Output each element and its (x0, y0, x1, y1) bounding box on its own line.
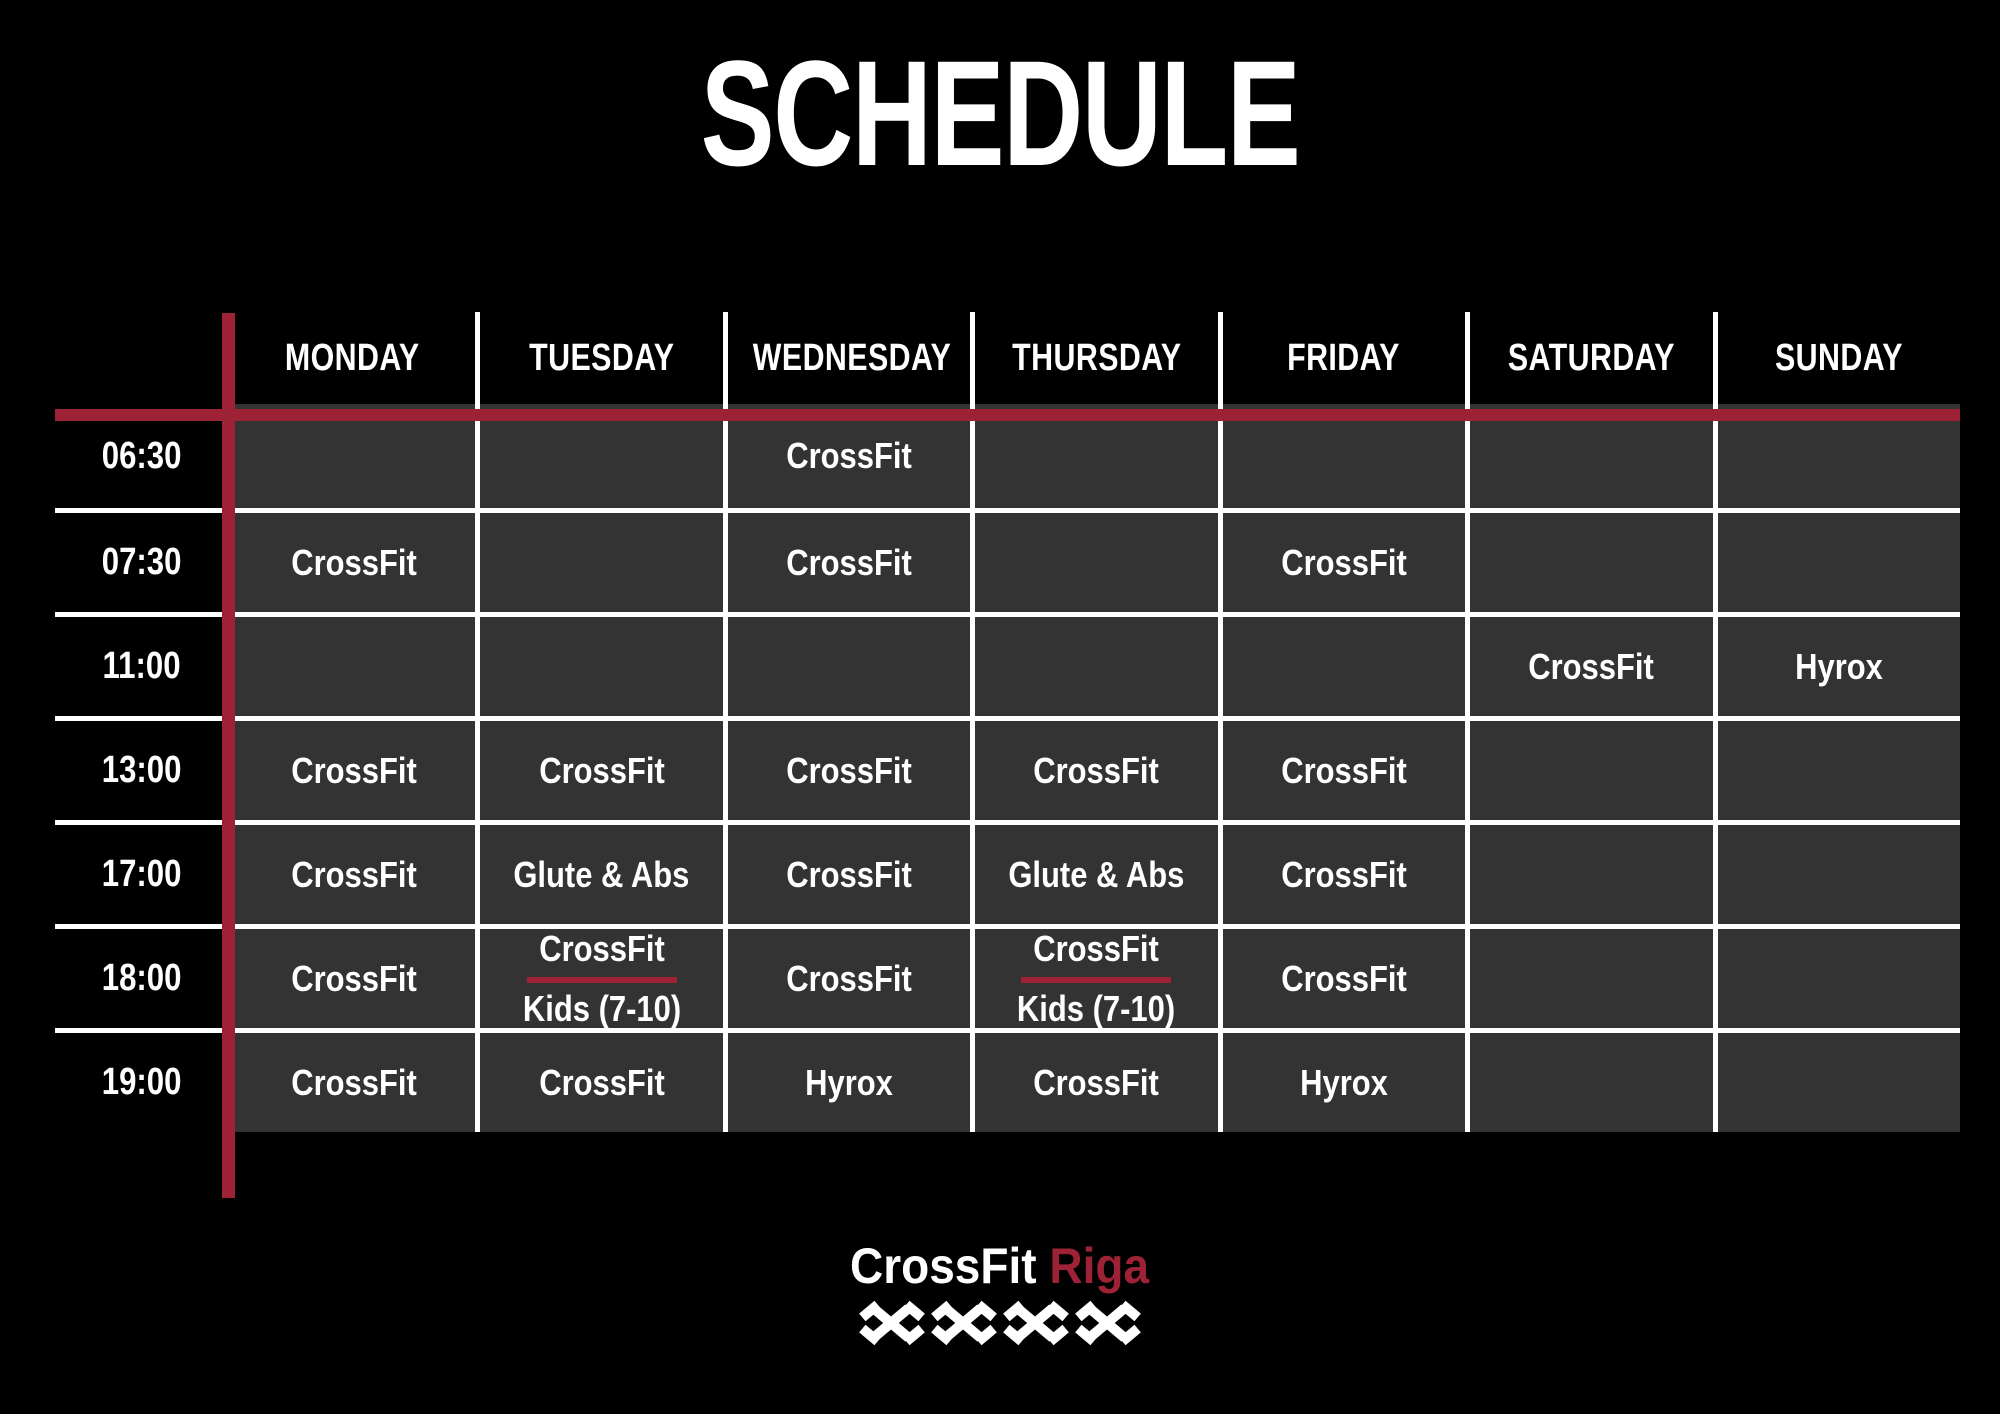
day-header-label: SATURDAY (1508, 337, 1675, 380)
schedule-row: 13:00CrossFitCrossFitCrossFitCrossFitCro… (55, 716, 1960, 820)
class-name: CrossFit (786, 959, 912, 999)
footer: CrossFit Riga (0, 1238, 2000, 1342)
time-label-text: 18:00 (102, 957, 182, 1000)
class-name: Hyrox (805, 1063, 893, 1103)
class-name-secondary: Kids (7-10) (1017, 991, 1175, 1027)
class-cell-wednesday-0730[interactable]: CrossFit (723, 508, 970, 612)
day-header-thursday: THURSDAY (970, 312, 1217, 404)
class-cell-monday-1800[interactable]: CrossFit (228, 924, 475, 1028)
day-header-label: TUESDAY (529, 337, 674, 380)
class-divider-rule (1021, 977, 1171, 983)
class-cell-thursday-1800[interactable]: CrossFitKids (7-10) (970, 924, 1217, 1028)
brand-secondary: Riga (1050, 1238, 1150, 1294)
schedule-row: 18:00CrossFitCrossFitKids (7-10)CrossFit… (55, 924, 1960, 1028)
class-cell-wednesday-1100[interactable] (723, 612, 970, 716)
class-cell-saturday-0730[interactable] (1465, 508, 1712, 612)
class-divider-rule (527, 977, 677, 983)
class-cell-thursday-1100[interactable] (970, 612, 1217, 716)
class-name: CrossFit (786, 855, 912, 895)
dual-class-block: CrossFitKids (7-10) (480, 931, 722, 1027)
class-cell-friday-1300[interactable]: CrossFit (1218, 716, 1465, 820)
schedule-table: MONDAYTUESDAYWEDNESDAYTHURSDAYFRIDAYSATU… (55, 312, 1960, 1132)
class-cell-thursday-1700[interactable]: Glute & Abs (970, 820, 1217, 924)
class-name: CrossFit (1529, 647, 1655, 687)
time-label-text: 11:00 (103, 645, 181, 688)
time-label-text: 06:30 (102, 435, 182, 478)
class-cell-saturday-1900[interactable] (1465, 1028, 1712, 1132)
class-cell-monday-0730[interactable]: CrossFit (228, 508, 475, 612)
class-cell-tuesday-1100[interactable] (475, 612, 722, 716)
day-header-wednesday: WEDNESDAY (723, 312, 970, 404)
class-cell-sunday-1900[interactable] (1713, 1028, 1960, 1132)
class-name-secondary: Kids (7-10) (523, 991, 681, 1027)
class-name: Hyrox (1300, 1063, 1388, 1103)
class-cell-sunday-1300[interactable] (1713, 716, 1960, 820)
class-cell-friday-1800[interactable]: CrossFit (1218, 924, 1465, 1028)
class-cell-friday-1100[interactable] (1218, 612, 1465, 716)
schedule-row: 07:30CrossFitCrossFitCrossFit (55, 508, 1960, 612)
schedule-poster: SCHEDULE MONDAYTUESDAYWEDNESDAYTHURSDAYF… (0, 0, 2000, 1414)
accent-line-vertical (222, 313, 235, 1198)
class-name-primary: CrossFit (1034, 931, 1160, 971)
day-header-tuesday: TUESDAY (475, 312, 722, 404)
class-name: CrossFit (786, 436, 912, 476)
class-name: CrossFit (539, 751, 665, 791)
class-cell-monday-1100[interactable] (228, 612, 475, 716)
class-cell-thursday-1900[interactable]: CrossFit (970, 1028, 1217, 1132)
class-name: Glute & Abs (1008, 855, 1184, 895)
crossfit-chevron-icon (1008, 1304, 1064, 1342)
day-header-label: FRIDAY (1288, 337, 1401, 380)
schedule-row: 17:00CrossFitGlute & AbsCrossFitGlute & … (55, 820, 1960, 924)
time-label-1900: 19:00 (55, 1028, 228, 1132)
schedule-header-row: MONDAYTUESDAYWEDNESDAYTHURSDAYFRIDAYSATU… (55, 312, 1960, 404)
day-header-label: THURSDAY (1012, 337, 1181, 380)
class-name: CrossFit (1034, 751, 1160, 791)
class-name: CrossFit (1281, 543, 1407, 583)
class-cell-thursday-1300[interactable]: CrossFit (970, 716, 1217, 820)
time-label-1700: 17:00 (55, 820, 228, 924)
schedule-body: 06:30CrossFit07:30CrossFitCrossFitCrossF… (55, 404, 1960, 1132)
class-name: CrossFit (1281, 751, 1407, 791)
class-cell-saturday-1300[interactable] (1465, 716, 1712, 820)
day-header-label: WEDNESDAY (753, 337, 951, 380)
class-cell-wednesday-1300[interactable]: CrossFit (723, 716, 970, 820)
class-name: CrossFit (1281, 959, 1407, 999)
class-cell-saturday-1800[interactable] (1465, 924, 1712, 1028)
accent-line-horizontal (55, 409, 1960, 421)
page-title: SCHEDULE (260, 38, 1740, 188)
class-cell-sunday-1800[interactable] (1713, 924, 1960, 1028)
class-name: CrossFit (291, 1063, 417, 1103)
class-cell-monday-1900[interactable]: CrossFit (228, 1028, 475, 1132)
time-label-0730: 07:30 (55, 508, 228, 612)
class-cell-tuesday-1300[interactable]: CrossFit (475, 716, 722, 820)
day-header-saturday: SATURDAY (1465, 312, 1712, 404)
day-header-sunday: SUNDAY (1713, 312, 1960, 404)
class-name: CrossFit (1281, 855, 1407, 895)
class-cell-thursday-0730[interactable] (970, 508, 1217, 612)
class-name: Hyrox (1795, 647, 1883, 687)
time-label-text: 17:00 (102, 853, 182, 896)
day-header-monday: MONDAY (228, 312, 475, 404)
class-name: CrossFit (786, 751, 912, 791)
dual-class-block: CrossFitKids (7-10) (975, 931, 1217, 1027)
schedule-grid-wrapper: MONDAYTUESDAYWEDNESDAYTHURSDAYFRIDAYSATU… (55, 312, 1960, 1222)
class-name: CrossFit (539, 1063, 665, 1103)
class-cell-tuesday-1700[interactable]: Glute & Abs (475, 820, 722, 924)
class-cell-sunday-1100[interactable]: Hyrox (1713, 612, 1960, 716)
time-label-text: 13:00 (102, 749, 182, 792)
day-header-label: MONDAY (284, 337, 419, 380)
class-name: Glute & Abs (514, 855, 690, 895)
class-cell-monday-1300[interactable]: CrossFit (228, 716, 475, 820)
brand-primary: CrossFit (850, 1238, 1037, 1294)
time-label-1300: 13:00 (55, 716, 228, 820)
schedule-row: 11:00CrossFitHyrox (55, 612, 1960, 716)
class-cell-friday-0730[interactable]: CrossFit (1218, 508, 1465, 612)
crossfit-chevron-icon (1080, 1304, 1136, 1342)
time-label-text: 07:30 (102, 541, 182, 584)
class-name: CrossFit (1034, 1063, 1160, 1103)
brand-logo: CrossFit Riga (0, 1238, 2000, 1294)
class-name: CrossFit (786, 543, 912, 583)
crossfit-chevron-icon (864, 1304, 920, 1342)
class-cell-sunday-0730[interactable] (1713, 508, 1960, 612)
class-cell-saturday-1100[interactable]: CrossFit (1465, 612, 1712, 716)
time-label-1100: 11:00 (55, 612, 228, 716)
class-cell-monday-1700[interactable]: CrossFit (228, 820, 475, 924)
class-cell-wednesday-1800[interactable]: CrossFit (723, 924, 970, 1028)
class-cell-friday-1700[interactable]: CrossFit (1218, 820, 1465, 924)
class-cell-sunday-1700[interactable] (1713, 820, 1960, 924)
crossfit-chevron-icon (936, 1304, 992, 1342)
class-cell-tuesday-1800[interactable]: CrossFitKids (7-10) (475, 924, 722, 1028)
class-cell-friday-1900[interactable]: Hyrox (1218, 1028, 1465, 1132)
class-name: CrossFit (291, 543, 417, 583)
brand-glyph-row (0, 1304, 2000, 1342)
class-cell-wednesday-1700[interactable]: CrossFit (723, 820, 970, 924)
class-cell-wednesday-1900[interactable]: Hyrox (723, 1028, 970, 1132)
time-column-header (55, 312, 228, 404)
class-name: CrossFit (291, 959, 417, 999)
class-name-primary: CrossFit (539, 931, 665, 971)
class-cell-saturday-1700[interactable] (1465, 820, 1712, 924)
day-header-label: SUNDAY (1775, 337, 1903, 380)
time-label-1800: 18:00 (55, 924, 228, 1028)
class-cell-tuesday-1900[interactable]: CrossFit (475, 1028, 722, 1132)
class-name: CrossFit (291, 855, 417, 895)
day-header-friday: FRIDAY (1218, 312, 1465, 404)
class-cell-tuesday-0730[interactable] (475, 508, 722, 612)
schedule-row: 19:00CrossFitCrossFitHyroxCrossFitHyrox (55, 1028, 1960, 1132)
class-name: CrossFit (291, 751, 417, 791)
time-label-text: 19:00 (102, 1061, 182, 1104)
